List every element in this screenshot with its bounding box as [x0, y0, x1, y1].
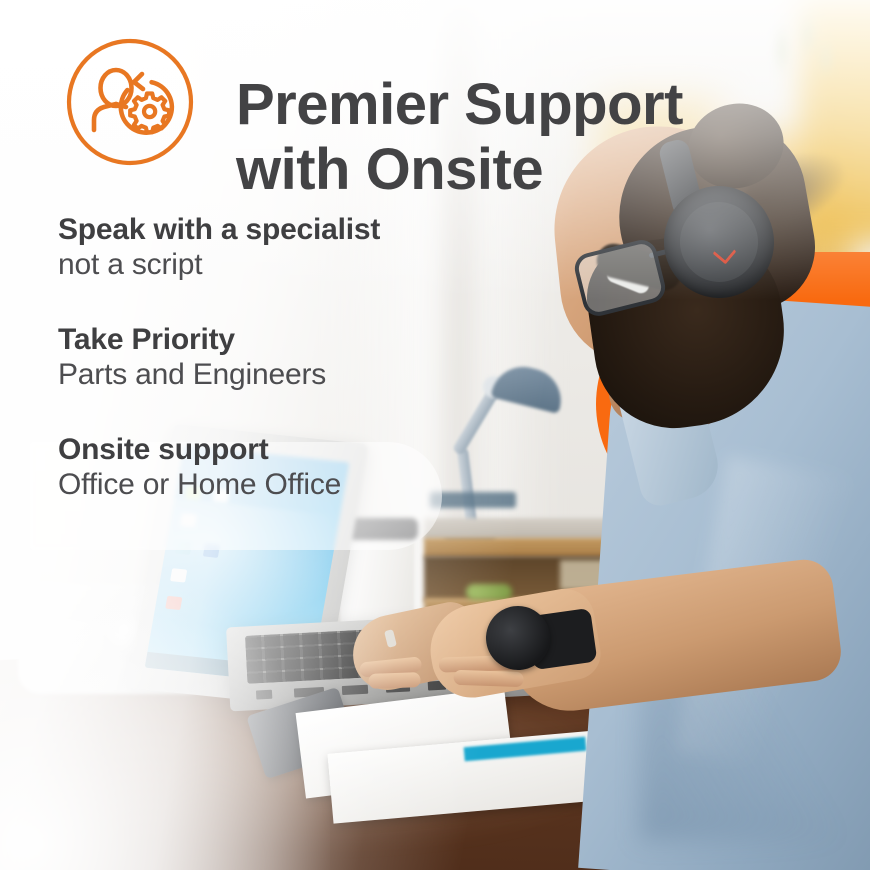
- feature-item-1: Speak with a specialist not a script: [58, 212, 528, 284]
- feature-item-2: Take Priority Parts and Engineers: [58, 322, 528, 394]
- feature-list: Speak with a specialist not a script Tak…: [58, 212, 528, 504]
- support-person-gear-icon: [64, 36, 196, 168]
- feature-title: Take Priority: [58, 322, 528, 357]
- promo-card: Premier Support with Onsite Speak with a…: [0, 0, 870, 870]
- headline-line-2: with Onsite: [236, 138, 846, 203]
- feature-subtitle: Office or Home Office: [58, 467, 528, 504]
- feature-subtitle: Parts and Engineers: [58, 357, 528, 394]
- headline-line-1: Premier Support: [236, 72, 683, 137]
- feature-title: Onsite support: [58, 432, 528, 467]
- feature-subtitle: not a script: [58, 247, 528, 284]
- promo-content: Premier Support with Onsite Speak with a…: [0, 0, 870, 870]
- page-title: Premier Support with Onsite: [236, 73, 846, 203]
- feature-title: Speak with a specialist: [58, 212, 528, 247]
- feature-item-3: Onsite support Office or Home Office: [58, 432, 528, 504]
